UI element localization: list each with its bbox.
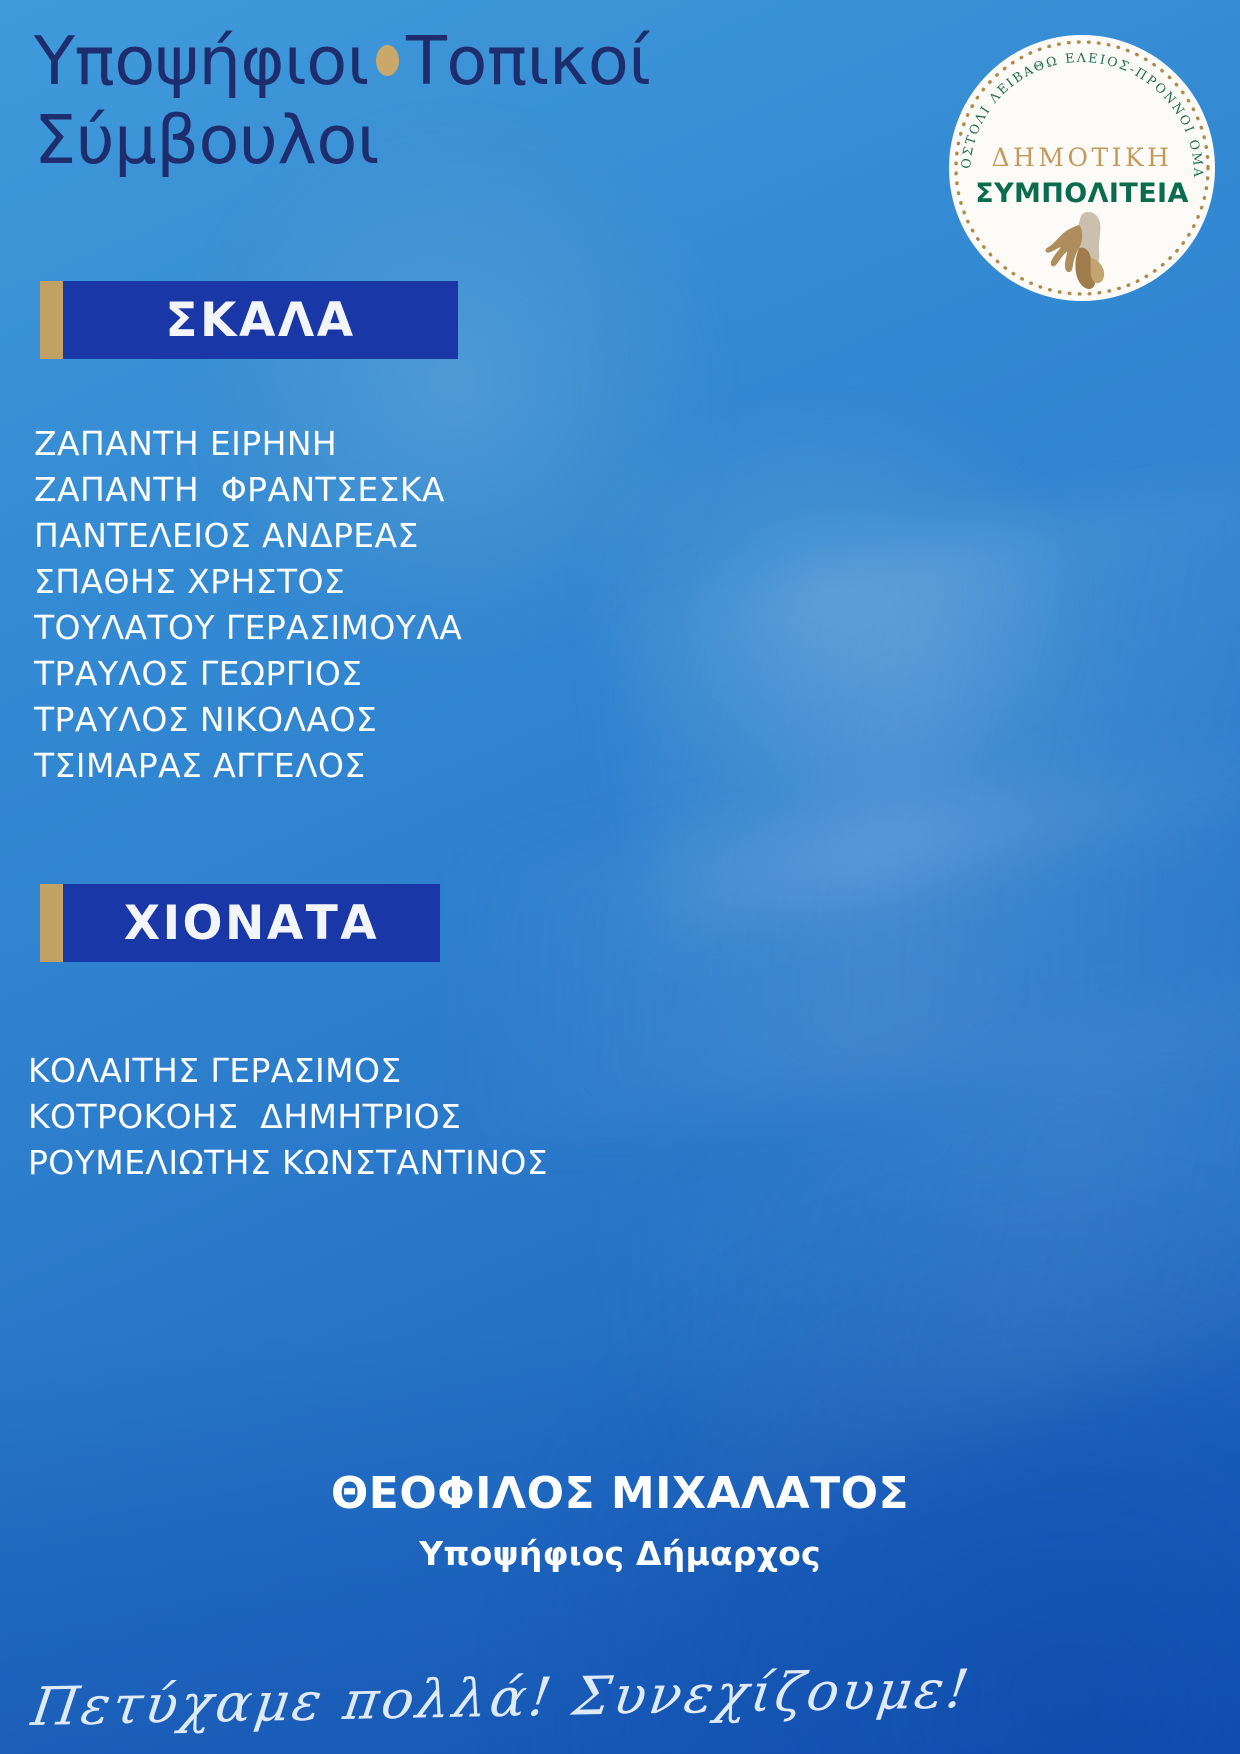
list-item: ΠΑΝΤΕΛΕΙΟΣ ΑΝΔΡΕΑΣ bbox=[34, 513, 1040, 559]
title-word-candidates: Υποψήφιοι bbox=[34, 22, 369, 100]
list-item: ΤΟΥΛΑΤΟΥ ΓΕΡΑΣΙΜΟΥΛΑ bbox=[34, 605, 1040, 651]
page-title: ΥποψήφιοιΤοπικοί Σύμβουλοι bbox=[34, 22, 814, 180]
poster-root: ΥποψήφιοιΤοπικοί Σύμβουλοι ΑΡΓΟΣΤΟΛΙ ΛΕΙ… bbox=[0, 0, 1240, 1754]
section-title-chionata: ΧΙΟΝΑΤΑ bbox=[98, 896, 405, 951]
banner-body: ΣΚΑΛΑ bbox=[63, 281, 458, 359]
banner-accent-bar bbox=[40, 281, 63, 359]
title-word-councillors: Σύμβουλοι bbox=[34, 101, 379, 179]
party-logo: ΑΡΓΟΣΤΟΛΙ ΛΕΙΒΑΘΩ ΕΛΕΙΟΣ-ΠΡΟΝΝΟΙ ΟΜΑΔΑ Δ… bbox=[946, 32, 1218, 304]
list-item: ΚΟΤΡΟΚΟΗΣ ΔΗΜΗΤΡΙΟΣ bbox=[28, 1094, 1040, 1140]
section-banner-skala: ΣΚΑΛΑ bbox=[40, 281, 1040, 359]
poster-content: ΥποψήφιοιΤοπικοί Σύμβουλοι ΑΡΓΟΣΤΟΛΙ ΛΕΙ… bbox=[0, 0, 1240, 1754]
logo-line2: ΣΥΜΠΟΛΙΤΕΙΑ bbox=[975, 178, 1189, 209]
candidate-list-skala: ΖΑΠΑΝΤΗ ΕΙΡΗΝΗ ΖΑΠΑΝΤΗ ΦΡΑΝΤΣΕΣΚΑ ΠΑΝΤΕΛ… bbox=[34, 421, 1040, 789]
banner-body: ΧΙΟΝΑΤΑ bbox=[63, 884, 440, 962]
campaign-slogan: Πετύχαμε πολλά! Συνεχίζουμε! bbox=[28, 1654, 1230, 1738]
list-item: ΤΡΑΥΛΟΣ ΓΕΩΡΓΙΟΣ bbox=[34, 651, 1040, 697]
list-item: ΣΠΑΘΗΣ ΧΡΗΣΤΟΣ bbox=[34, 559, 1040, 605]
banner-accent-bar bbox=[40, 884, 63, 962]
mayor-candidate-name: ΘΕΟΦΙΛΟΣ ΜΙΧΑΛΑΤΟΣ bbox=[0, 1470, 1240, 1518]
list-item: ΤΣΙΜΑΡΑΣ ΑΓΓΕΛΟΣ bbox=[34, 743, 1040, 789]
bullet-dot-icon bbox=[376, 45, 399, 76]
mayor-candidate-role: Υποψήφιος Δήμαρχος bbox=[0, 1534, 1240, 1573]
list-item: ΖΑΠΑΝΤΗ ΕΙΡΗΝΗ bbox=[34, 421, 1040, 467]
candidate-list-chionata: ΚΟΛΑΙΤΗΣ ΓΕΡΑΣΙΜΟΣ ΚΟΤΡΟΚΟΗΣ ΔΗΜΗΤΡΙΟΣ Ρ… bbox=[28, 1048, 1040, 1186]
section-skala: ΣΚΑΛΑ ΖΑΠΑΝΤΗ ΕΙΡΗΝΗ ΖΑΠΑΝΤΗ ΦΡΑΝΤΣΕΣΚΑ … bbox=[40, 281, 1040, 789]
section-banner-chionata: ΧΙΟΝΑΤΑ bbox=[40, 884, 1040, 962]
title-word-local: Τοπικοί bbox=[406, 22, 651, 100]
list-item: ΤΡΑΥΛΟΣ ΝΙΚΟΛΑΟΣ bbox=[34, 697, 1040, 743]
list-item: ΚΟΛΑΙΤΗΣ ΓΕΡΑΣΙΜΟΣ bbox=[28, 1048, 1040, 1094]
section-title-skala: ΣΚΑΛΑ bbox=[139, 293, 381, 348]
section-chionata: ΧΙΟΝΑΤΑ ΚΟΛΑΙΤΗΣ ΓΕΡΑΣΙΜΟΣ ΚΟΤΡΟΚΟΗΣ ΔΗΜ… bbox=[40, 884, 1040, 1186]
mayor-candidate-block: ΘΕΟΦΙΛΟΣ ΜΙΧΑΛΑΤΟΣ Υποψήφιος Δήμαρχος bbox=[0, 1470, 1240, 1573]
list-item: ΡΟΥΜΕΛΙΩΤΗΣ ΚΩΝΣΤΑΝΤΙΝΟΣ bbox=[28, 1140, 1040, 1186]
list-item: ΖΑΠΑΝΤΗ ΦΡΑΝΤΣΕΣΚΑ bbox=[34, 467, 1040, 513]
logo-line1: ΔΗΜΟΤΙΚΗ bbox=[992, 143, 1173, 172]
